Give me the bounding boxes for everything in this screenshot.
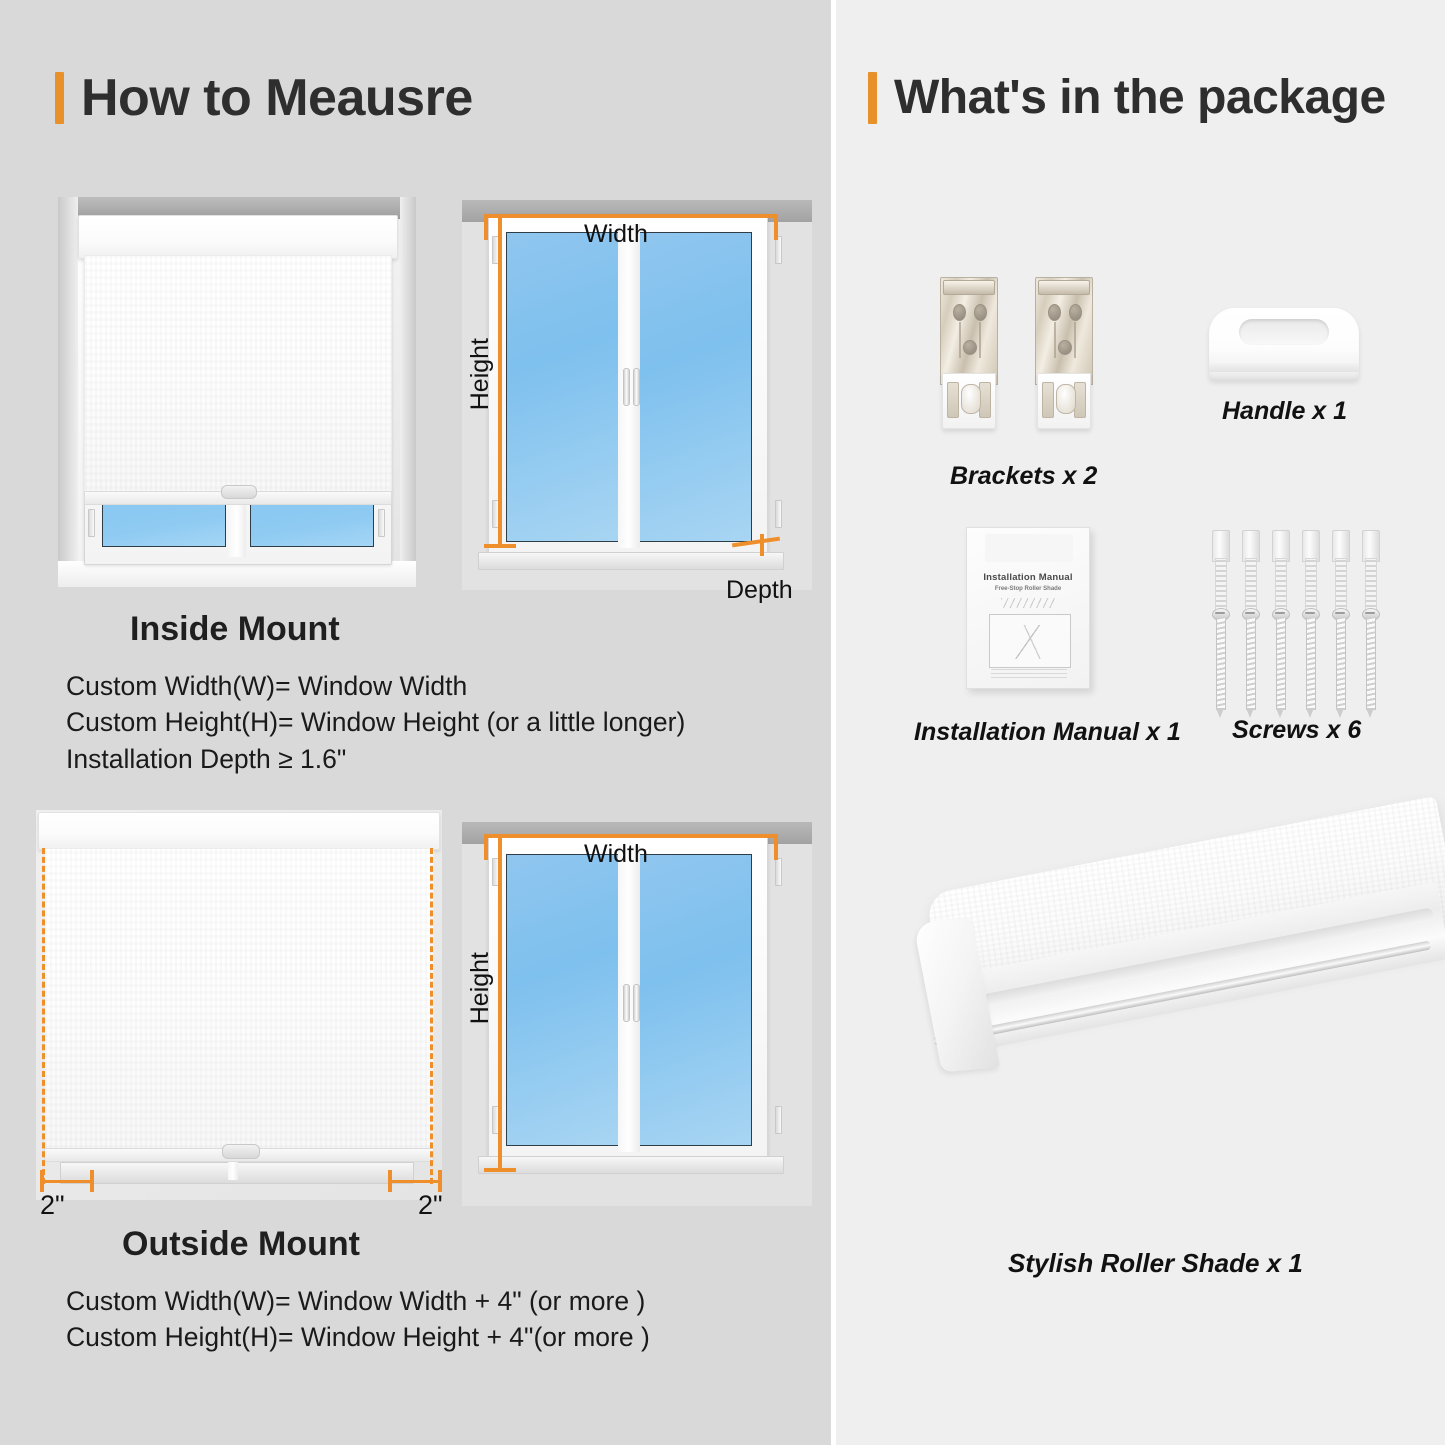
- width-dimension-line: [484, 214, 778, 218]
- screw-shaft-2: [1246, 618, 1256, 710]
- inside-mount-title: Inside Mount: [130, 610, 340, 649]
- screw-shaft-5: [1336, 618, 1346, 710]
- bracket-metal-body-2: [1035, 277, 1093, 385]
- bracket-center-oval-2: [1056, 384, 1076, 414]
- bracket-plastic-base-2: [1037, 373, 1091, 429]
- screw-slot-6: [1365, 612, 1375, 614]
- overhang-label-left: 2": [40, 1190, 65, 1221]
- screw-tip-6: [1366, 708, 1374, 718]
- bracket-slot-left-2: [1042, 382, 1054, 418]
- accent-bar-icon-right: [868, 72, 877, 124]
- screw-shaft-1: [1216, 618, 1226, 710]
- wall-anchor-6: [1360, 530, 1380, 616]
- outside-mount-illustration: [36, 810, 442, 1200]
- width2-dimension-tick-left: [484, 834, 488, 860]
- width-dimension-tick-right: [774, 214, 778, 240]
- screw-6: [1362, 608, 1378, 718]
- bracket-hole-1: [953, 304, 966, 321]
- outside-measure-window: Width Height: [462, 822, 812, 1206]
- width2-label: Width: [584, 840, 648, 869]
- manual-header-band: [985, 534, 1073, 562]
- roller-shade-label: Stylish Roller Shade x 1: [1008, 1248, 1303, 1279]
- wall-anchor-3: [1270, 530, 1290, 616]
- width2-dimension-line: [484, 834, 778, 838]
- bracket-item-2: [1035, 277, 1091, 427]
- bracket-top-flange: [943, 280, 995, 295]
- bracket-rib-right: [979, 322, 981, 358]
- window-hinge-bottom-right: [775, 500, 782, 528]
- how-to-measure-heading: How to Meausre: [55, 72, 473, 124]
- bracket-hole-1b: [1048, 304, 1061, 321]
- installation-manual-item: Installation Manual Free-Stop Roller Sha…: [966, 527, 1090, 689]
- manual-cover-diagram-box: [989, 614, 1071, 668]
- window-sill: [478, 552, 784, 570]
- outside-mount-title: Outside Mount: [122, 1225, 360, 1264]
- overhang-label-right: 2": [418, 1190, 443, 1221]
- installation-manual-label: Installation Manual x 1: [914, 718, 1181, 747]
- inside-window-hinge-right: [378, 509, 385, 537]
- height2-label: Height: [466, 952, 495, 1024]
- recess-left-edge: [58, 197, 78, 587]
- bracket-hole-3: [963, 340, 977, 355]
- screw-shaft-3: [1276, 618, 1286, 710]
- outside-shade-valance: [38, 812, 440, 850]
- screw-slot-5: [1335, 612, 1345, 614]
- window-handle-right: [633, 368, 640, 406]
- wall-anchor-2: [1240, 530, 1260, 616]
- overhang-guide-left: [42, 848, 45, 1184]
- overhang-arrow-right: [388, 1180, 442, 1183]
- bracket-rib-right-2: [1074, 322, 1076, 358]
- outside-spec-height: Custom Height(H)= Window Height + 4"(or …: [66, 1319, 650, 1355]
- overhang-tick-left-inner: [90, 1170, 94, 1192]
- recess-right-edge: [400, 197, 416, 587]
- inside-shade-fabric: [84, 255, 392, 497]
- inside-mount-specs: Custom Width(W)= Window Width Custom Hei…: [66, 668, 685, 777]
- bracket-item-1: [940, 277, 996, 427]
- manual-cover-sketch: [1002, 625, 1058, 659]
- screw-shaft-4: [1306, 618, 1316, 710]
- bracket-center-oval: [961, 384, 981, 414]
- screw-2: [1242, 608, 1258, 718]
- window2-hinge-bottom-right: [775, 1106, 782, 1134]
- handle-bottom-lip: [1209, 363, 1359, 372]
- bracket-rib-left-2: [1054, 322, 1056, 358]
- screw-1: [1212, 608, 1228, 718]
- window-hinge-top-right: [775, 236, 782, 264]
- handle-item: [1209, 308, 1359, 380]
- height2-dimension-line: [498, 838, 502, 1172]
- accent-bar-icon: [55, 72, 64, 124]
- inside-mount-illustration: [58, 197, 416, 587]
- brackets-label: Brackets x 2: [950, 462, 1097, 491]
- handle-grip-slot: [1239, 319, 1329, 345]
- width-label: Width: [584, 220, 648, 249]
- outside-spec-width: Custom Width(W)= Window Width + 4" (or m…: [66, 1283, 650, 1319]
- inside-spec-depth: Installation Depth ≥ 1.6": [66, 741, 685, 777]
- bracket-hole-2b: [1069, 304, 1082, 321]
- inside-spec-height: Custom Height(H)= Window Height (or a li…: [66, 704, 685, 740]
- package-heading: What's in the package: [868, 72, 1386, 124]
- inside-measure-window: Width Height: [462, 200, 812, 590]
- overhang-tick-right-inner: [388, 1170, 392, 1192]
- bracket-plastic-base: [942, 373, 996, 429]
- bracket-rib-left: [959, 322, 961, 358]
- outside-mount-specs: Custom Width(W)= Window Width + 4" (or m…: [66, 1283, 650, 1356]
- bracket-metal-body: [940, 277, 998, 385]
- window2-glass-left: [506, 854, 620, 1146]
- window-handle-left: [623, 368, 630, 406]
- width2-dimension-tick-right: [774, 834, 778, 860]
- window2-glass-right: [638, 854, 752, 1146]
- handle-label: Handle x 1: [1222, 397, 1347, 426]
- screw-tip-1: [1216, 708, 1224, 718]
- bracket-hole-2: [974, 304, 987, 321]
- inside-shade-valance: [78, 215, 398, 259]
- window2-handle-right: [633, 984, 640, 1022]
- manual-cover-title: Installation Manual: [967, 572, 1089, 583]
- screw-slot-1: [1215, 612, 1225, 614]
- overhang-arrow-left: [40, 1180, 94, 1183]
- manual-cover-subtitle: Free-Stop Roller Shade: [967, 586, 1089, 592]
- window2-hinge-top-right: [775, 858, 782, 886]
- manual-cover-footer-lines: [991, 666, 1067, 678]
- screw-slot-4: [1305, 612, 1315, 614]
- height-label: Height: [466, 338, 495, 410]
- height2-dimension-tick-bottom: [484, 1168, 516, 1172]
- inside-shade-pull-tab: [221, 485, 257, 499]
- overhang-tick-left-outer: [40, 1170, 44, 1192]
- wall-anchor-5: [1330, 530, 1350, 616]
- bracket-top-flange-2: [1038, 280, 1090, 295]
- bracket-hole-3b: [1058, 340, 1072, 355]
- window-glass-left: [506, 232, 620, 542]
- window-glass-right: [638, 232, 752, 542]
- overhang-guide-right: [430, 848, 433, 1184]
- screw-3: [1272, 608, 1288, 718]
- depth-label: Depth: [726, 576, 793, 605]
- infographic-page: How to Meausre Inside Mount Custom Width…: [0, 0, 1445, 1445]
- wall-anchor-1: [1210, 530, 1230, 616]
- how-to-measure-title: How to Meausre: [81, 72, 473, 124]
- screw-slot-3: [1275, 612, 1285, 614]
- outside-shade-pull-tab: [222, 1144, 260, 1159]
- window2-sill: [478, 1156, 784, 1174]
- height-dimension-tick-bottom: [484, 544, 516, 548]
- wall-anchor-4: [1300, 530, 1320, 616]
- manual-cover-scribble: [1001, 598, 1055, 608]
- screw-5: [1332, 608, 1348, 718]
- screw-slot-2: [1245, 612, 1255, 614]
- bracket-slot-left: [947, 382, 959, 418]
- roller-shade-product: [905, 885, 1435, 1215]
- screw-shaft-6: [1366, 618, 1376, 710]
- package-title: What's in the package: [894, 74, 1386, 122]
- depth-dimension-tick: [760, 534, 764, 556]
- window2-handle-left: [623, 984, 630, 1022]
- height-dimension-line: [498, 218, 502, 548]
- outside-shade-fabric: [44, 848, 434, 1156]
- screw-4: [1302, 608, 1318, 718]
- width-dimension-tick-left: [484, 214, 488, 240]
- overhang-tick-right-outer: [438, 1170, 442, 1192]
- inside-spec-width: Custom Width(W)= Window Width: [66, 668, 685, 704]
- inside-window-hinge-left: [88, 509, 95, 537]
- screws-label: Screws x 6: [1232, 716, 1361, 745]
